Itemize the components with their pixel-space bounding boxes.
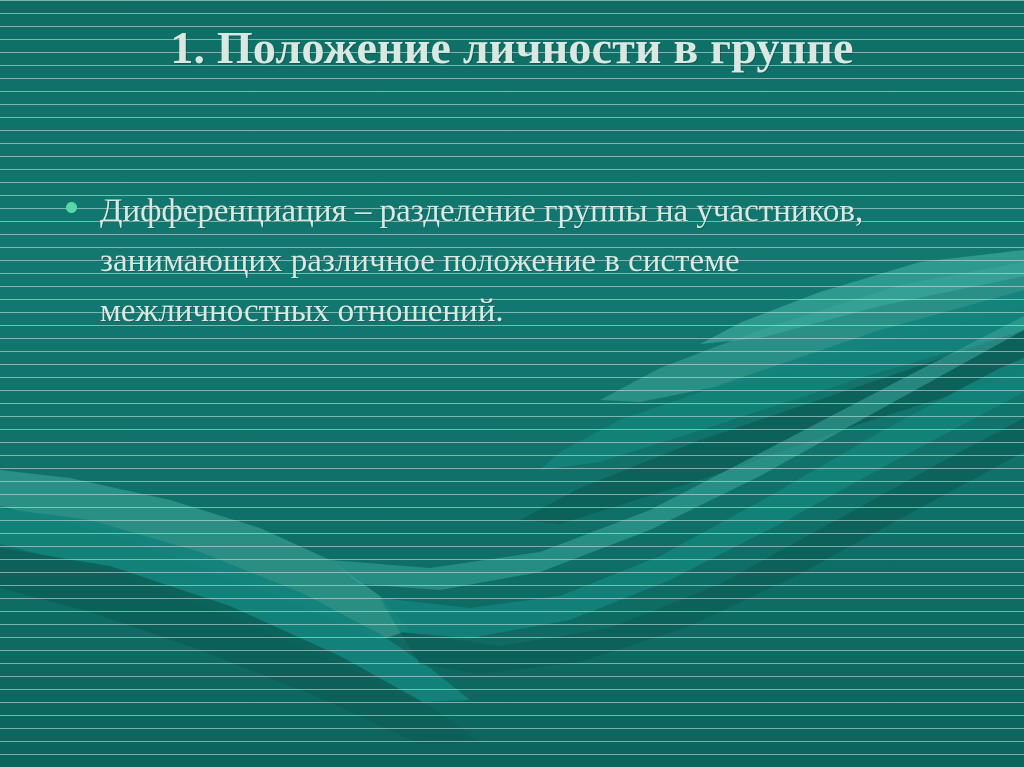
slide-bullet-list: Дифференциация – разделение группы на уч… [52, 186, 952, 336]
slide-title: 1. Положение личности в группе [60, 20, 964, 76]
list-item: Дифференциация – разделение группы на уч… [52, 186, 952, 336]
bullet-text: Дифференциация – разделение группы на уч… [100, 193, 863, 329]
presentation-slide: 1. Положение личности в группе Дифференц… [0, 0, 1024, 767]
slide-content: 1. Положение личности в группе Дифференц… [0, 0, 1024, 767]
bullet-dot-icon [66, 202, 77, 213]
